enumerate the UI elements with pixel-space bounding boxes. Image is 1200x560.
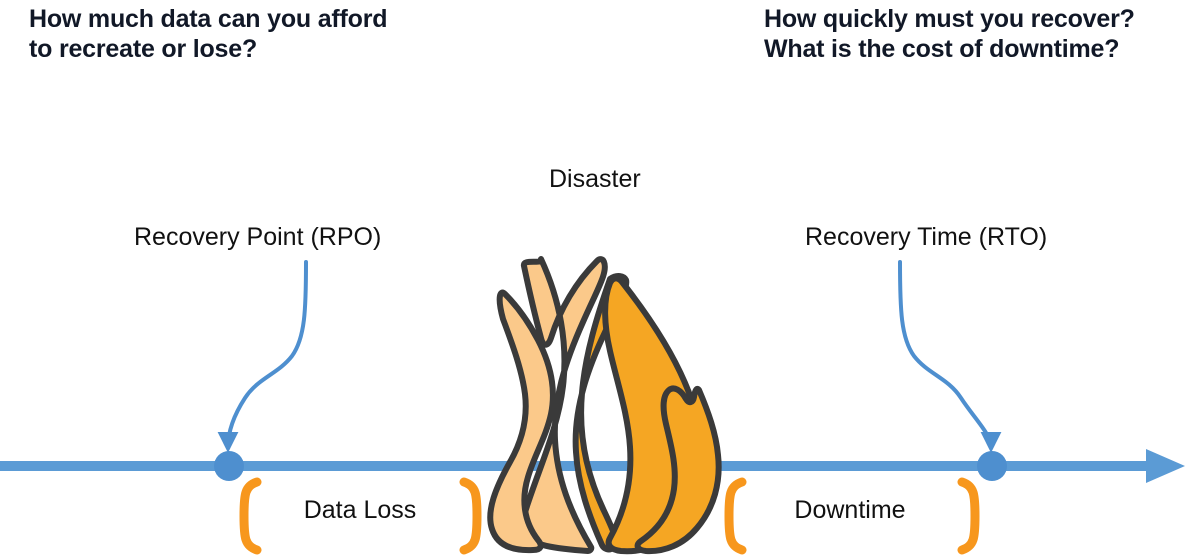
rto-callout-arrow-icon	[900, 262, 991, 447]
bracket-open-downtime-icon	[729, 482, 742, 550]
label-recovery-time: Recovery Time (RTO)	[805, 222, 1047, 252]
rto-marker-dot[interactable]	[977, 451, 1007, 481]
rpo-callout-arrow-icon	[228, 262, 306, 447]
label-data-loss-span: Data Loss	[265, 495, 455, 525]
label-downtime-span: Downtime	[755, 495, 945, 525]
label-recovery-point: Recovery Point (RPO)	[134, 222, 381, 252]
diagram-canvas: How much data can you afford to recreate…	[0, 0, 1200, 560]
heading-downtime-question: How quickly must you recover? What is th…	[764, 4, 1135, 64]
label-disaster: Disaster	[549, 164, 641, 194]
rpo-marker-dot[interactable]	[214, 451, 244, 481]
timeline-arrowhead-icon	[1146, 449, 1185, 483]
bracket-close-downtime-icon	[962, 482, 975, 550]
bracket-open-data-loss-icon	[244, 482, 257, 550]
bracket-close-data-loss-icon	[464, 482, 477, 550]
disaster-flame-icon	[490, 259, 718, 551]
rpo-rto-timeline-graphic	[0, 0, 1200, 560]
heading-data-loss-question: How much data can you afford to recreate…	[29, 4, 387, 64]
